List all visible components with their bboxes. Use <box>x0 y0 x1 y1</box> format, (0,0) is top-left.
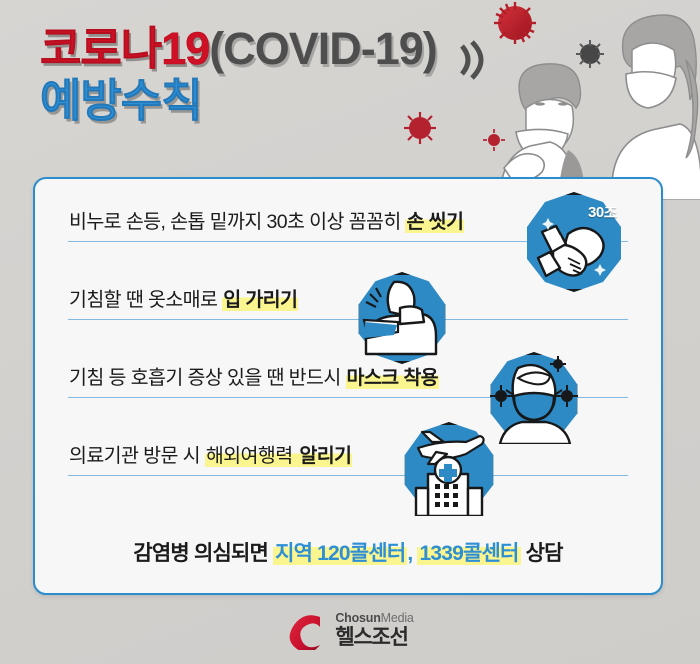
cta-separator: , <box>407 542 417 565</box>
poster-canvas: 코로나19(COVID-19) 예방수칙 비누로 손등, 손톱 밑까지 30초 … <box>0 0 700 664</box>
chosun-c-swoosh-icon <box>286 610 326 650</box>
cta-suffix: 상담 <box>521 542 563 565</box>
cta-phone-1: 지역 120콜센터 <box>273 542 407 565</box>
logo-brand-bold: Chosun <box>335 611 380 625</box>
hand-wash-duration-badge: 30초 <box>588 201 617 222</box>
tip-text-2-highlight: 입 가리기 <box>222 289 298 311</box>
tip-text-2-plain: 기침할 땐 옷소매로 <box>69 289 222 311</box>
logo-brand-korean: 헬스조선 <box>335 627 413 648</box>
tip-separator-4 <box>68 475 628 476</box>
title-korean-main: 코로나19 <box>40 23 209 74</box>
tip-text-3-plain: 기침 등 호흡기 증상 있을 땐 반드시 <box>69 367 346 389</box>
tip-text-4-plain: 의료기관 방문 시 <box>69 445 205 467</box>
tip-text-4-highlight: 알리기 <box>294 445 353 467</box>
face-mask-icon <box>488 352 580 444</box>
logo-brand-light: Media <box>381 611 414 625</box>
tip-text-3-highlight: 마스크 착용 <box>346 367 440 389</box>
tip-text-4-highlight-light: 해외여행력 <box>205 445 294 467</box>
tip-text-1-highlight: 손 씻기 <box>405 211 464 233</box>
tip-text-4: 의료기관 방문 시 해외여행력 알리기 <box>69 439 352 468</box>
cta-prefix: 감염병 의심되면 <box>133 542 273 565</box>
poster-title: 코로나19(COVID-19) 예방수칙 <box>40 26 437 123</box>
airplane-hospital-glyph <box>402 422 496 516</box>
call-center-cta: 감염병 의심되면 지역 120콜센터, 1339콜센터 상담 <box>35 537 661 567</box>
cough-into-sleeve-icon <box>356 272 448 364</box>
travel-history-hospital-icon <box>402 422 496 516</box>
face-mask-glyph <box>488 352 580 444</box>
logo-wordmark: ChosunMedia 헬스조선 <box>335 612 413 649</box>
cta-phone-2: 1339콜센터 <box>417 542 520 565</box>
tip-text-1-plain: 비누로 손등, 손톱 밑까지 30초 이상 꼼꼼히 <box>69 211 405 233</box>
cough-sleeve-glyph <box>356 272 448 364</box>
title-subtitle: 예방수칙 <box>40 75 202 126</box>
background-illustration <box>460 0 700 200</box>
tip-text-1: 비누로 손등, 손톱 밑까지 30초 이상 꼼꼼히 손 씻기 <box>69 205 464 234</box>
tip-separator-2 <box>68 319 628 320</box>
title-english: (COVID-19) <box>209 23 437 74</box>
logo-brand-english: ChosunMedia <box>335 612 413 625</box>
tip-text-2: 기침할 땐 옷소매로 입 가리기 <box>69 283 298 312</box>
tip-text-3: 기침 등 호흡기 증상 있을 땐 반드시 마스크 착용 <box>69 361 439 390</box>
hand-washing-icon: 30초 <box>524 192 624 292</box>
publisher-logo: ChosunMedia 헬스조선 <box>0 606 700 654</box>
masked-people-artwork <box>460 0 700 200</box>
